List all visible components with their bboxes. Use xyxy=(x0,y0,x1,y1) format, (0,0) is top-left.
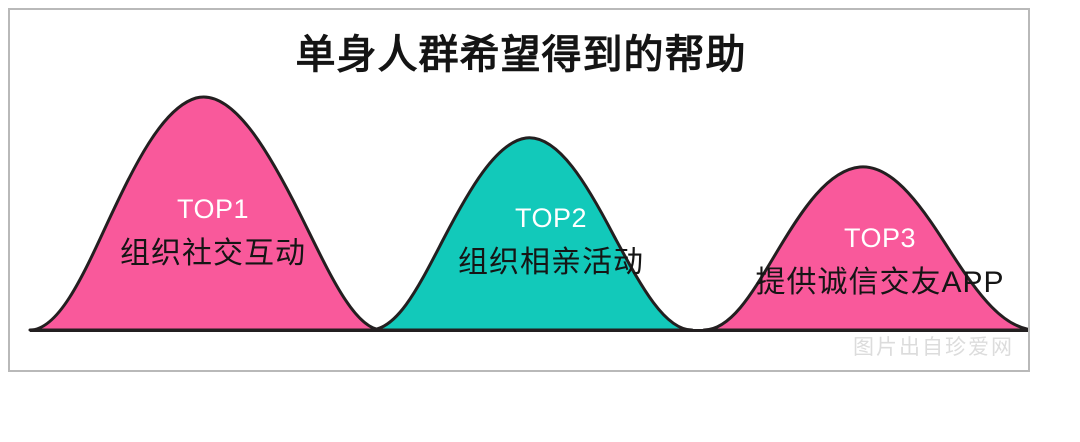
source-watermark: 图片出自珍爱网 xyxy=(853,334,1014,362)
infographic-root: 单身人群希望得到的帮助 TOP1 组织社交互动 TOP2 组织相亲活动 TOP3… xyxy=(0,0,1080,442)
chart-card-frame: 单身人群希望得到的帮助 TOP1 组织社交互动 TOP2 组织相亲活动 TOP3… xyxy=(8,8,1030,372)
hill-shape-top3 xyxy=(704,167,1030,330)
hill-shape-top1 xyxy=(30,97,382,330)
page-title: 单身人群希望得到的帮助 xyxy=(10,32,1030,78)
hill-shape-top2 xyxy=(370,138,692,330)
